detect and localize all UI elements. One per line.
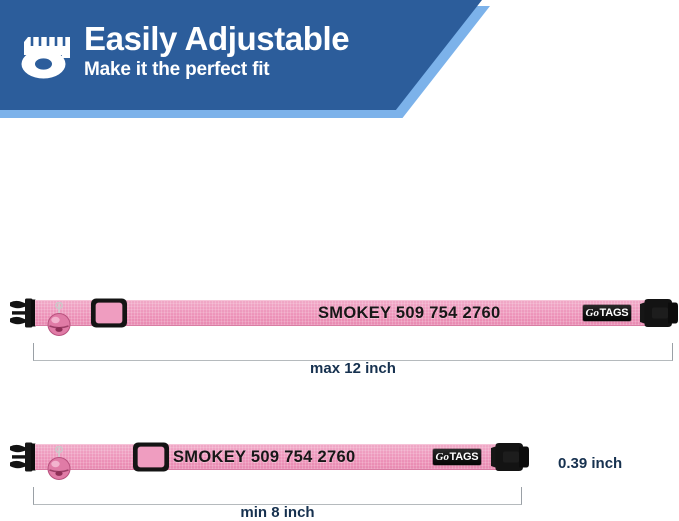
engraved-text: SMOKEY 509 754 2760 (173, 444, 355, 470)
measuring-tape-icon (18, 24, 76, 86)
buckle-female-icon (489, 441, 530, 473)
min-length-bracket (33, 487, 522, 505)
banner-content: Easily Adjustable Make it the perfect fi… (10, 0, 470, 110)
min-length-collar: SMOKEY 509 754 2760 Go TAGS (8, 440, 568, 474)
brand-go-text: Go (436, 452, 449, 463)
bell-icon (45, 446, 75, 486)
max-length-collar: SMOKEY 509 754 2760 Go TAGS (8, 296, 679, 330)
buckle-female-icon (638, 297, 679, 329)
banner-title: Easily Adjustable (84, 22, 349, 57)
banner-text-block: Easily Adjustable Make it the perfect fi… (84, 22, 349, 89)
brand-tags-text: TAGS (600, 308, 629, 319)
banner-subtitle: Make it the perfect fit (84, 60, 349, 81)
brand-go-text: Go (586, 308, 599, 319)
engraved-text: SMOKEY 509 754 2760 (318, 300, 500, 326)
max-length-label: max 12 inch (33, 360, 673, 377)
brand-tag: Go TAGS (583, 305, 631, 321)
collar-width-label: 0.39 inch (558, 455, 622, 472)
min-length-label: min 8 inch (33, 504, 522, 521)
max-length-bracket (33, 343, 673, 361)
header-banner: Easily Adjustable Make it the perfect fi… (0, 0, 679, 130)
slider-adjuster (132, 441, 170, 473)
slider-adjuster (90, 297, 128, 329)
bell-icon (45, 302, 75, 342)
brand-tags-text: TAGS (450, 452, 479, 463)
brand-tag: Go TAGS (433, 449, 481, 465)
